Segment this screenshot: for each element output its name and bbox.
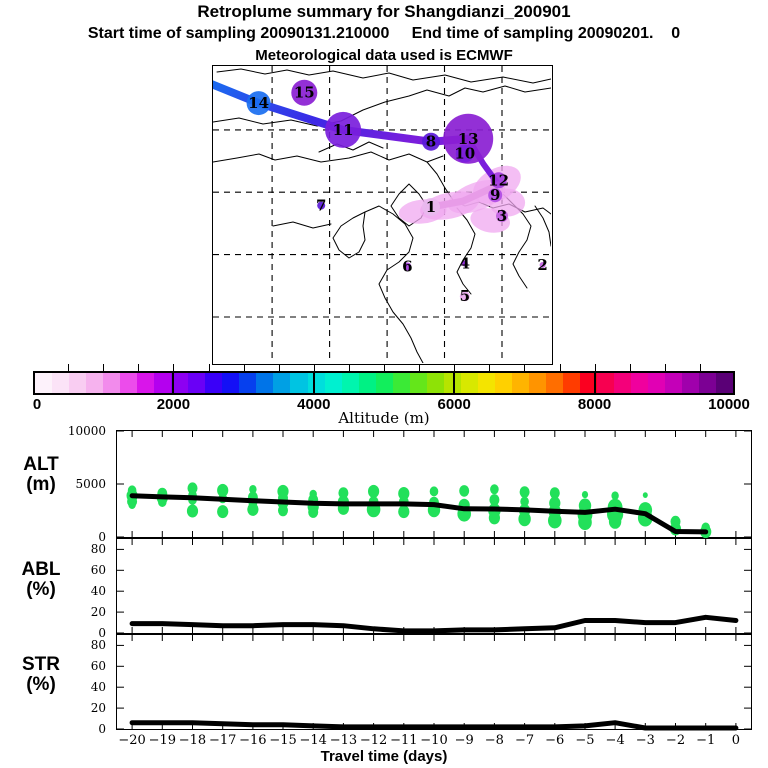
x-tick-label: −9	[455, 733, 474, 748]
colorbar-swatch	[410, 373, 427, 393]
svg-text:14: 14	[248, 94, 269, 112]
colorbar-swatch	[614, 373, 631, 393]
abl-y-tick-label: 80	[0, 542, 106, 556]
colorbar-tick	[138, 364, 139, 371]
altitude-colorbar: 0200040006000800010000	[33, 371, 735, 395]
abl-y-tick-label: 40	[0, 584, 106, 598]
colorbar-tick	[209, 364, 210, 371]
colorbar-swatch	[103, 373, 120, 393]
svg-text:3: 3	[497, 207, 507, 225]
colorbar-swatch	[137, 373, 154, 393]
x-tick-label: −20	[118, 733, 145, 748]
colorbar-swatch	[563, 373, 580, 393]
colorbar-separator	[594, 371, 596, 395]
map-canvas: 151411813101291376452	[213, 66, 551, 363]
colorbar-swatch	[342, 373, 359, 393]
x-tick-label: −16	[239, 733, 266, 748]
colorbar-swatch	[461, 373, 478, 393]
colorbar-swatch	[69, 373, 86, 393]
colorbar-swatch	[376, 373, 393, 393]
x-tick-label: −6	[545, 733, 564, 748]
str-y-tick-label: 80	[0, 638, 106, 652]
abl-y-tick-label: 60	[0, 563, 106, 577]
colorbar-separator	[313, 371, 315, 395]
x-tick-label: −13	[330, 733, 357, 748]
colorbar-swatch	[308, 373, 325, 393]
colorbar-tick	[560, 364, 561, 371]
svg-text:5: 5	[460, 287, 470, 305]
abl-plot[interactable]	[116, 538, 752, 634]
colorbar-swatch	[86, 373, 103, 393]
colorbar-swatch	[239, 373, 256, 393]
colorbar-swatch	[52, 373, 69, 393]
x-tick-label: −17	[209, 733, 236, 748]
alt-y-tick-label: 10000	[0, 424, 106, 438]
svg-text:10: 10	[454, 145, 475, 163]
colorbar-tick	[68, 364, 69, 371]
colorbar-tick	[173, 364, 174, 371]
colorbar-separator	[453, 371, 455, 395]
colorbar-swatch	[529, 373, 546, 393]
str-plot[interactable]	[116, 634, 752, 730]
colorbar-tick	[524, 364, 525, 371]
colorbar-swatch	[682, 373, 699, 393]
str-y-tick-label: 20	[0, 701, 106, 715]
x-tick-label: −14	[300, 733, 327, 748]
x-tick-label: −18	[179, 733, 206, 748]
x-tick-label: −1	[696, 733, 715, 748]
colorbar-swatch	[427, 373, 444, 393]
x-tick-label: −3	[636, 733, 655, 748]
svg-text:15: 15	[294, 84, 315, 102]
colorbar-swatch	[120, 373, 137, 393]
colorbar-swatch	[290, 373, 307, 393]
str-plot-canvas	[117, 635, 751, 729]
meteorology-line: Meteorological data used is ECMWF	[0, 47, 768, 64]
x-tick-label: −19	[149, 733, 176, 748]
str-y-tick-label: 60	[0, 659, 106, 673]
alt-plot-canvas	[117, 431, 751, 537]
colorbar-swatch	[35, 373, 52, 393]
colorbar-tick	[595, 364, 596, 371]
svg-text:1: 1	[426, 198, 436, 216]
alt-y-tick-label: 5000	[0, 477, 106, 491]
retroplume-map[interactable]: 151411813101291376452	[212, 65, 553, 365]
colorbar-swatch	[648, 373, 665, 393]
svg-text:6: 6	[402, 258, 412, 276]
colorbar-tick	[454, 364, 455, 371]
alt-panel-name: ALT	[6, 455, 76, 475]
abl-y-tick-label: 20	[0, 605, 106, 619]
colorbar-tick	[419, 364, 420, 371]
x-tick-label: −15	[269, 733, 296, 748]
colorbar-swatch	[359, 373, 376, 393]
colorbar-tick	[103, 364, 104, 371]
x-axis-title: Travel time (days)	[0, 748, 768, 765]
x-tick-label: −12	[360, 733, 387, 748]
svg-text:11: 11	[333, 121, 354, 139]
colorbar-swatch	[154, 373, 171, 393]
sampling-time-line: Start time of sampling 20090131.210000 E…	[0, 25, 768, 43]
svg-text:4: 4	[460, 255, 470, 273]
x-tick-label: −4	[606, 733, 625, 748]
alt-plot[interactable]	[116, 430, 752, 538]
svg-text:7: 7	[316, 197, 326, 215]
colorbar-swatch	[393, 373, 410, 393]
abl-plot-canvas	[117, 539, 751, 633]
colorbar-swatch	[222, 373, 239, 393]
colorbar-swatch	[325, 373, 342, 393]
colorbar-ticks	[33, 364, 735, 371]
colorbar-tick	[384, 364, 385, 371]
str-y-tick-label: 0	[0, 722, 106, 736]
colorbar-tick	[489, 364, 490, 371]
x-tick-label: 0	[732, 733, 740, 748]
colorbar-gradient	[33, 371, 735, 395]
colorbar-swatch	[631, 373, 648, 393]
svg-text:2: 2	[537, 256, 547, 274]
page-title: Retroplume summary for Shangdianzi_20090…	[0, 2, 768, 22]
colorbar-swatch	[478, 373, 495, 393]
x-tick-label: −2	[666, 733, 685, 748]
x-tick-label: −5	[575, 733, 594, 748]
x-tick-label: −11	[390, 733, 417, 748]
colorbar-separator	[172, 371, 174, 395]
colorbar-swatch	[495, 373, 512, 393]
colorbar-swatch	[256, 373, 273, 393]
colorbar-swatch	[188, 373, 205, 393]
colorbar-title: Altitude (m)	[0, 409, 768, 427]
colorbar-swatch	[273, 373, 290, 393]
x-tick-label: −8	[485, 733, 504, 748]
colorbar-swatch	[512, 373, 529, 393]
str-y-tick-label: 40	[0, 680, 106, 694]
colorbar-tick	[349, 364, 350, 371]
colorbar-swatch	[665, 373, 682, 393]
x-tick-label: −7	[515, 733, 534, 748]
svg-text:9: 9	[490, 186, 500, 204]
colorbar-swatch	[597, 373, 614, 393]
colorbar-tick	[279, 364, 280, 371]
colorbar-swatch	[205, 373, 222, 393]
colorbar-tick	[665, 364, 666, 371]
colorbar-swatch	[699, 373, 716, 393]
x-tick-label: −10	[420, 733, 447, 748]
colorbar-tick	[314, 364, 315, 371]
svg-text:8: 8	[426, 133, 436, 151]
colorbar-swatch	[546, 373, 563, 393]
colorbar-swatch	[716, 373, 733, 393]
colorbar-tick	[630, 364, 631, 371]
colorbar-tick	[700, 364, 701, 371]
colorbar-tick	[244, 364, 245, 371]
